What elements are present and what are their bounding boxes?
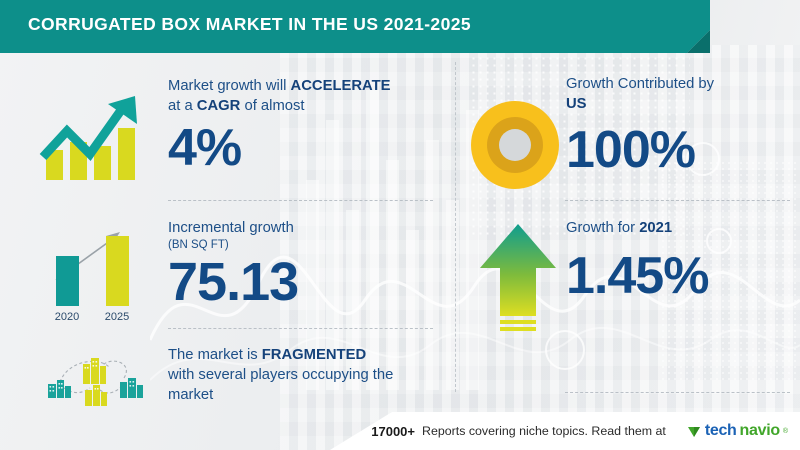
growth-contribution-value: 100% — [566, 122, 796, 178]
cagr-block: Market growth will ACCELERATE at a CAGR … — [168, 76, 443, 176]
left-divider-1 — [168, 200, 433, 201]
incremental-growth-unit: (BN SQ FT) — [168, 238, 443, 253]
logo-text-tech: tech — [705, 422, 737, 440]
right-divider-2 — [565, 392, 790, 393]
incremental-growth-block: Incremental growth (BN SQ FT) 75.13 — [168, 218, 443, 311]
cagr-line1-bold: ACCELERATE — [291, 78, 391, 94]
infographic-canvas: CORRUGATED BOX MARKET IN THE US 2021-202… — [0, 0, 800, 450]
left-divider-2 — [168, 328, 433, 329]
growth-2021-value: 1.45% — [566, 248, 796, 304]
technavio-logo[interactable]: technavio® — [687, 422, 788, 440]
bar-comparison-icon: 2020 2025 — [40, 212, 158, 324]
incremental-growth-title: Incremental growth — [168, 218, 443, 238]
donut-chart-icon — [470, 100, 560, 190]
growth-2021-title: Growth for 2021 — [566, 218, 796, 238]
column-divider — [455, 62, 456, 392]
market-structure-line1-a: The market is — [168, 347, 262, 363]
growth-contribution-subject: US — [566, 94, 796, 114]
cagr-line1-a: Market growth will — [168, 78, 291, 94]
svg-text:2020: 2020 — [55, 311, 79, 323]
incremental-growth-value: 75.13 — [168, 253, 443, 311]
growth-2021-title-bold: 2021 — [639, 220, 672, 236]
market-structure-line3: market — [168, 387, 213, 403]
market-structure-line2: with several players occupying the — [168, 367, 393, 383]
market-structure-block: The market is FRAGMENTED with several pl… — [168, 345, 448, 405]
triangle-arrow-icon — [687, 424, 702, 439]
market-structure-description: The market is FRAGMENTED with several pl… — [168, 345, 448, 405]
svg-text:2025: 2025 — [105, 311, 129, 323]
market-structure-line1-bold: FRAGMENTED — [262, 347, 366, 363]
footer-bar: 17000+ Reports covering niche topics. Re… — [330, 412, 800, 450]
up-arrow-icon — [478, 220, 558, 338]
growth-arrow-chart-icon — [38, 84, 150, 188]
cagr-line2-bold: CAGR — [197, 98, 241, 114]
registered-mark: ® — [783, 428, 788, 435]
cagr-description: Market growth will ACCELERATE at a CAGR … — [168, 76, 443, 116]
cagr-line2-a: at a — [168, 98, 197, 114]
growth-contribution-block: Growth Contributed by US 100% — [566, 74, 796, 178]
growth-contribution-title: Growth Contributed by — [566, 74, 796, 94]
logo-text-navio: navio — [740, 422, 780, 440]
footer-report-count: 17000+ — [371, 424, 415, 439]
page-title: CORRUGATED BOX MARKET IN THE US 2021-202… — [28, 14, 471, 35]
growth-2021-title-plain: Growth for — [566, 220, 639, 236]
growth-2021-block: Growth for 2021 1.45% — [566, 218, 796, 304]
right-divider-1 — [565, 200, 790, 201]
cagr-line2-b: of almost — [240, 98, 304, 114]
footer-text: Reports covering niche topics. Read them… — [422, 424, 666, 438]
cagr-value: 4% — [168, 120, 443, 176]
city-network-icon — [38, 352, 153, 408]
